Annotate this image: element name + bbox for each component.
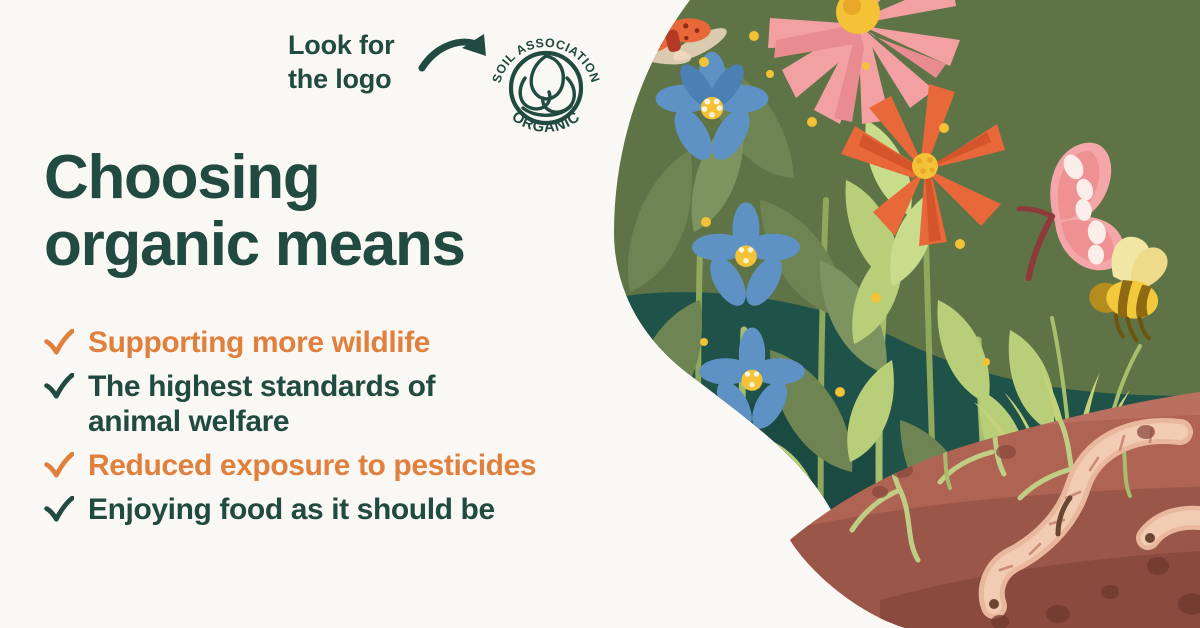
list-item-label: Reduced exposure to pesticides <box>88 448 536 483</box>
callout-line-1: Look for <box>288 28 438 62</box>
list-item: Reduced exposure to pesticides <box>44 448 684 483</box>
list-item: The highest standards of animal welfare <box>44 369 684 439</box>
benefits-list: Supporting more wildlife The highest sta… <box>44 325 684 536</box>
soil-association-leaf-mark-icon <box>520 56 574 115</box>
page-title: Choosing organic means <box>44 145 604 279</box>
list-item-label: Supporting more wildlife <box>88 325 430 360</box>
list-item: Supporting more wildlife <box>44 325 684 360</box>
look-for-logo-callout: Look for the logo <box>288 28 438 96</box>
check-icon <box>44 325 88 356</box>
logo-bottom-text: ORGANIC <box>509 108 584 136</box>
callout-line-2: the logo <box>288 62 438 96</box>
curved-arrow-right-icon <box>418 26 498 82</box>
logo-top-text: SOIL ASSOCIATION <box>489 36 602 85</box>
headline-line-1: Choosing <box>44 145 604 212</box>
list-item-label: Enjoying food as it should be <box>88 492 495 527</box>
organic-promo-poster: Look for the logo SOIL ASSOCIATION <box>0 0 1200 628</box>
list-item: Enjoying food as it should be <box>44 492 684 527</box>
check-icon <box>44 369 88 400</box>
headline-line-2: organic means <box>44 212 604 279</box>
check-icon <box>44 492 88 523</box>
soil-association-organic-logo: SOIL ASSOCIATION ORGANIC <box>487 22 605 150</box>
list-item-label: The highest standards of animal welfare <box>88 369 435 439</box>
check-icon <box>44 448 88 479</box>
